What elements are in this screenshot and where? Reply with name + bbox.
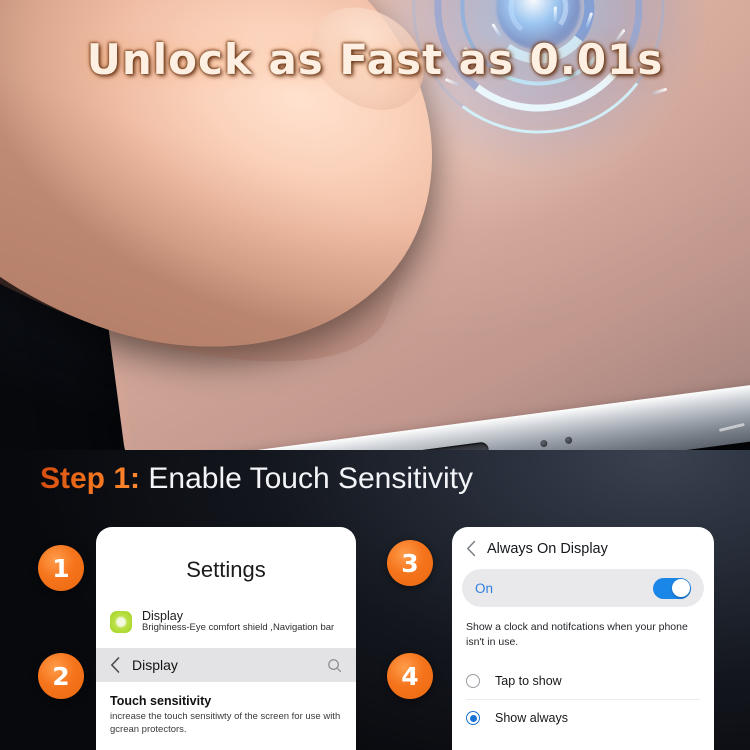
aod-header: Always On Display bbox=[452, 527, 714, 557]
radio-unselected-icon[interactable] bbox=[466, 674, 480, 688]
chevron-left-icon[interactable] bbox=[110, 657, 120, 673]
step-badge-1: 1 bbox=[38, 545, 84, 591]
step-title: Step 1: Enable Touch Sensitivity bbox=[40, 462, 473, 496]
settings-row-subtitle: Brighiness-Eye comfort shield ,Navigatio… bbox=[142, 623, 334, 634]
touch-sensitivity-block[interactable]: Touch sensitivity increase the touch sen… bbox=[96, 682, 356, 737]
step-badge-2: 2 bbox=[38, 653, 84, 699]
aod-toggle[interactable] bbox=[653, 578, 691, 599]
display-app-bar: Display bbox=[96, 648, 356, 682]
aod-option-show-always[interactable]: Show always bbox=[452, 700, 714, 736]
step-heading-text: Enable Touch Sensitivity bbox=[148, 462, 473, 495]
radio-selected-icon[interactable] bbox=[466, 711, 480, 725]
touch-sensitivity-title: Touch sensitivity bbox=[110, 694, 342, 708]
chevron-left-icon[interactable] bbox=[466, 540, 476, 557]
settings-row-display[interactable]: Display Brighiness-Eye comfort shield ,N… bbox=[96, 609, 356, 634]
touch-sensitivity-description: increase the touch sensitiwty of the scr… bbox=[110, 711, 342, 737]
frame-seam bbox=[718, 423, 744, 432]
aod-option-label: Tap to show bbox=[495, 674, 562, 688]
hero-image: Unlock as Fast as 0.01s bbox=[0, 0, 750, 450]
toggle-knob bbox=[672, 579, 690, 597]
hero-headline: Unlock as Fast as 0.01s bbox=[0, 35, 750, 84]
always-on-display-card: Always On Display On Show a clock and no… bbox=[452, 527, 714, 750]
speaker-hole bbox=[540, 440, 548, 448]
scanner-tick bbox=[651, 88, 667, 96]
aod-option-label: Show always bbox=[495, 711, 568, 725]
settings-row-title: Display bbox=[142, 609, 334, 623]
aod-description: Show a clock and notifcations when your … bbox=[452, 607, 714, 649]
step-badge-3: 3 bbox=[387, 540, 433, 586]
settings-row-texts: Display Brighiness-Eye comfort shield ,N… bbox=[142, 609, 334, 634]
speaker-hole bbox=[565, 437, 573, 445]
step-badge-4: 4 bbox=[387, 653, 433, 699]
aod-option-tap-to-show[interactable]: Tap to show bbox=[452, 663, 714, 699]
scanner-tick bbox=[585, 12, 593, 28]
display-bar-title: Display bbox=[132, 657, 315, 673]
promo-page: Unlock as Fast as 0.01s Step 1: Enable T… bbox=[0, 0, 750, 750]
settings-screenshot-card: Settings Display Brighiness-Eye comfort … bbox=[96, 527, 356, 750]
search-icon[interactable] bbox=[327, 658, 342, 673]
aod-on-label: On bbox=[475, 581, 493, 596]
aod-title: Always On Display bbox=[487, 541, 608, 557]
scanner-tick bbox=[553, 7, 556, 23]
usb-c-port bbox=[410, 442, 489, 450]
settings-page-title: Settings bbox=[96, 557, 356, 583]
step-label: Step 1: bbox=[40, 462, 140, 495]
aod-on-row[interactable]: On bbox=[462, 569, 704, 607]
brightness-icon bbox=[110, 611, 132, 633]
